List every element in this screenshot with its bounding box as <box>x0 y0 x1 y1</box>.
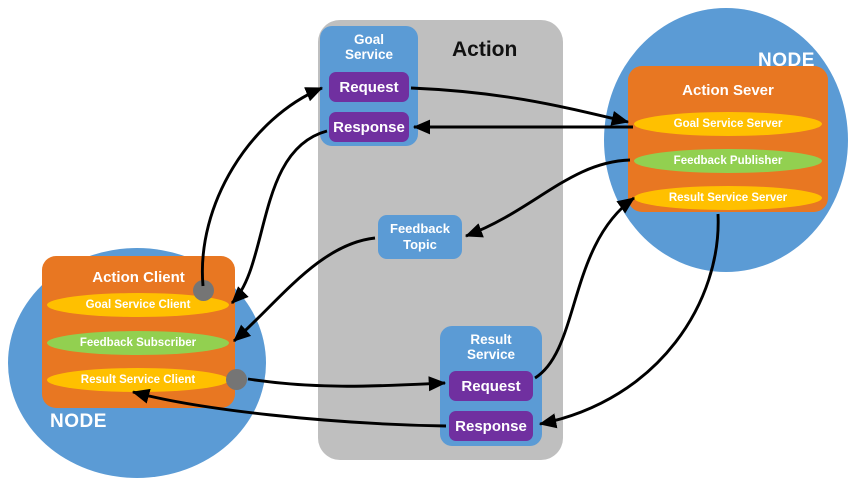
connection-arrows <box>0 0 854 480</box>
diagram-canvas: Action NODE Action Sever Goal Service Se… <box>0 0 854 480</box>
arrow-feedback-publisher-to-topic <box>466 160 630 236</box>
arrow-result-client-to-request <box>248 379 445 386</box>
arrow-request-to-goal-server <box>411 88 628 122</box>
arrow-response-to-goal-client <box>232 131 327 303</box>
arrow-result-response-to-client <box>133 392 446 426</box>
arrow-result-server-to-response <box>540 214 718 424</box>
arrow-goal-client-to-request <box>202 88 322 286</box>
arrow-result-request-to-server <box>535 198 634 378</box>
